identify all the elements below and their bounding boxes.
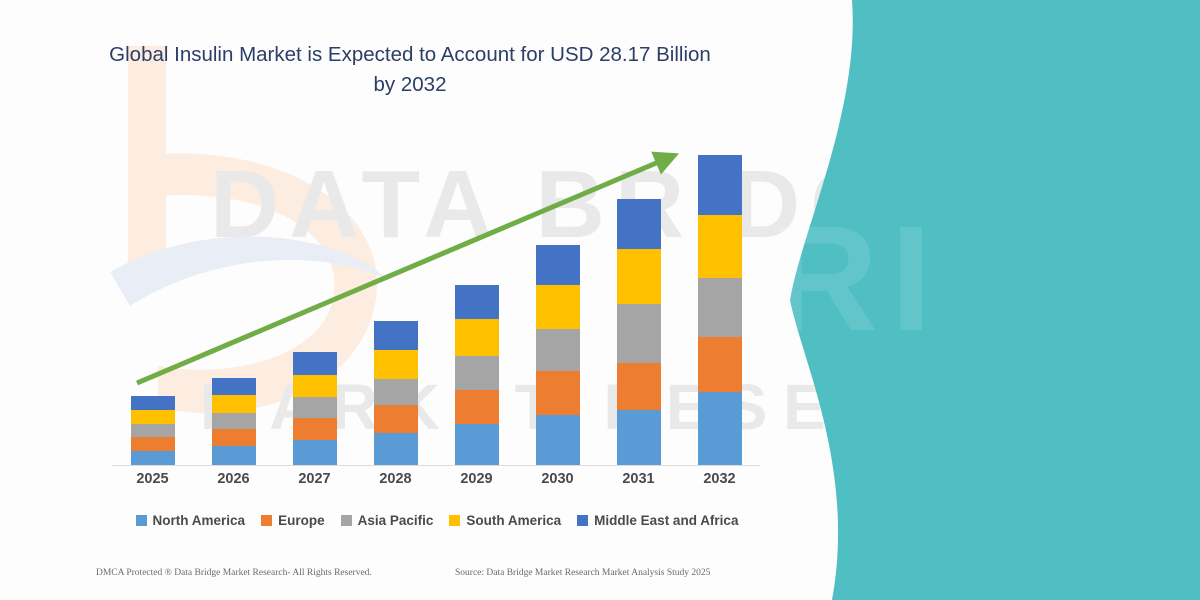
bar-segment [131,437,175,451]
bar-group [112,140,193,465]
bar-segment [536,371,580,415]
bar-segment [536,329,580,371]
bar-segment [212,395,256,413]
x-axis-line [112,465,760,466]
legend-label: Europe [278,513,325,528]
x-axis-label: 2026 [193,471,274,487]
legend-item[interactable]: Europe [261,513,325,528]
bar-segment [617,249,661,304]
bar-segment [212,378,256,395]
x-axis-label: 2029 [436,471,517,487]
stacked-bar [212,378,256,465]
bar-segment [536,245,580,285]
bar-segment [617,199,661,249]
bar-segment [455,319,499,356]
bar-segment [374,321,418,350]
bar-segment [455,390,499,425]
legend-swatch-icon [261,515,272,526]
legend-swatch-icon [136,515,147,526]
bar-group [517,140,598,465]
bar-segment [131,451,175,465]
stacked-bar [293,352,337,465]
stacked-bar [374,321,418,465]
svg-text:RI: RI [770,194,944,362]
bar-segment [131,424,175,437]
bar-segment [617,363,661,410]
side-panel: RI Global Insulin Market, By Regions, 20… [760,0,1200,600]
x-axis-label: 2027 [274,471,355,487]
chart-plot-area: 20252026202720282029203020312032 [0,0,790,600]
stacked-bar [617,199,661,465]
stacked-bar [536,245,580,465]
x-axis-label: 2030 [517,471,598,487]
x-axis-label: 2025 [112,471,193,487]
bar-segment [131,396,175,410]
legend-label: Asia Pacific [358,513,434,528]
bar-segment [293,375,337,397]
legend-label: North America [153,513,246,528]
stacked-bar [131,396,175,465]
infographic-canvas: DATA BRIDGE MARKET RESEARCH Global Insul… [0,0,1200,600]
bar-segment [374,433,418,465]
bar-segment [617,304,661,362]
x-axis-label: 2031 [598,471,679,487]
legend-label: South America [466,513,561,528]
stacked-bar [698,155,742,465]
bar-group [193,140,274,465]
legend-item[interactable]: South America [449,513,561,528]
bar-segment [698,337,742,392]
panel-shape: RI [760,0,1200,600]
legend-swatch-icon [449,515,460,526]
chart-legend: North AmericaEuropeAsia PacificSouth Ame… [112,513,762,528]
bar-segment [698,155,742,215]
bar-series-container [112,140,760,465]
bar-segment [536,285,580,329]
bar-group [355,140,436,465]
bar-segment [374,350,418,379]
bar-segment [293,397,337,418]
bar-segment [455,424,499,465]
bar-segment [698,215,742,278]
legend-swatch-icon [341,515,352,526]
stacked-bar [455,285,499,465]
legend-label: Middle East and Africa [594,513,738,528]
footer: DMCA Protected ® Data Bridge Market Rese… [0,568,790,590]
bar-segment [455,285,499,319]
bar-segment [374,405,418,433]
legend-swatch-icon [577,515,588,526]
footer-dmca-text: DMCA Protected ® Data Bridge Market Rese… [96,568,372,578]
bar-segment [536,415,580,465]
bar-segment [374,379,418,405]
bar-group [679,140,760,465]
bar-segment [212,446,256,465]
legend-item[interactable]: North America [136,513,246,528]
bar-segment [617,410,661,465]
legend-item[interactable]: Asia Pacific [341,513,434,528]
bar-group [598,140,679,465]
bar-segment [131,410,175,424]
x-axis-label: 2028 [355,471,436,487]
bar-segment [293,440,337,465]
bar-segment [698,392,742,465]
bar-group [274,140,355,465]
bar-segment [212,429,256,446]
footer-source-text: Source: Data Bridge Market Research Mark… [455,568,710,578]
bar-segment [293,418,337,440]
bar-group [436,140,517,465]
bar-segment [698,278,742,337]
bar-segment [212,413,256,429]
bar-segment [293,352,337,375]
x-axis-label: 2032 [679,471,760,487]
legend-item[interactable]: Middle East and Africa [577,513,738,528]
bar-segment [455,356,499,390]
